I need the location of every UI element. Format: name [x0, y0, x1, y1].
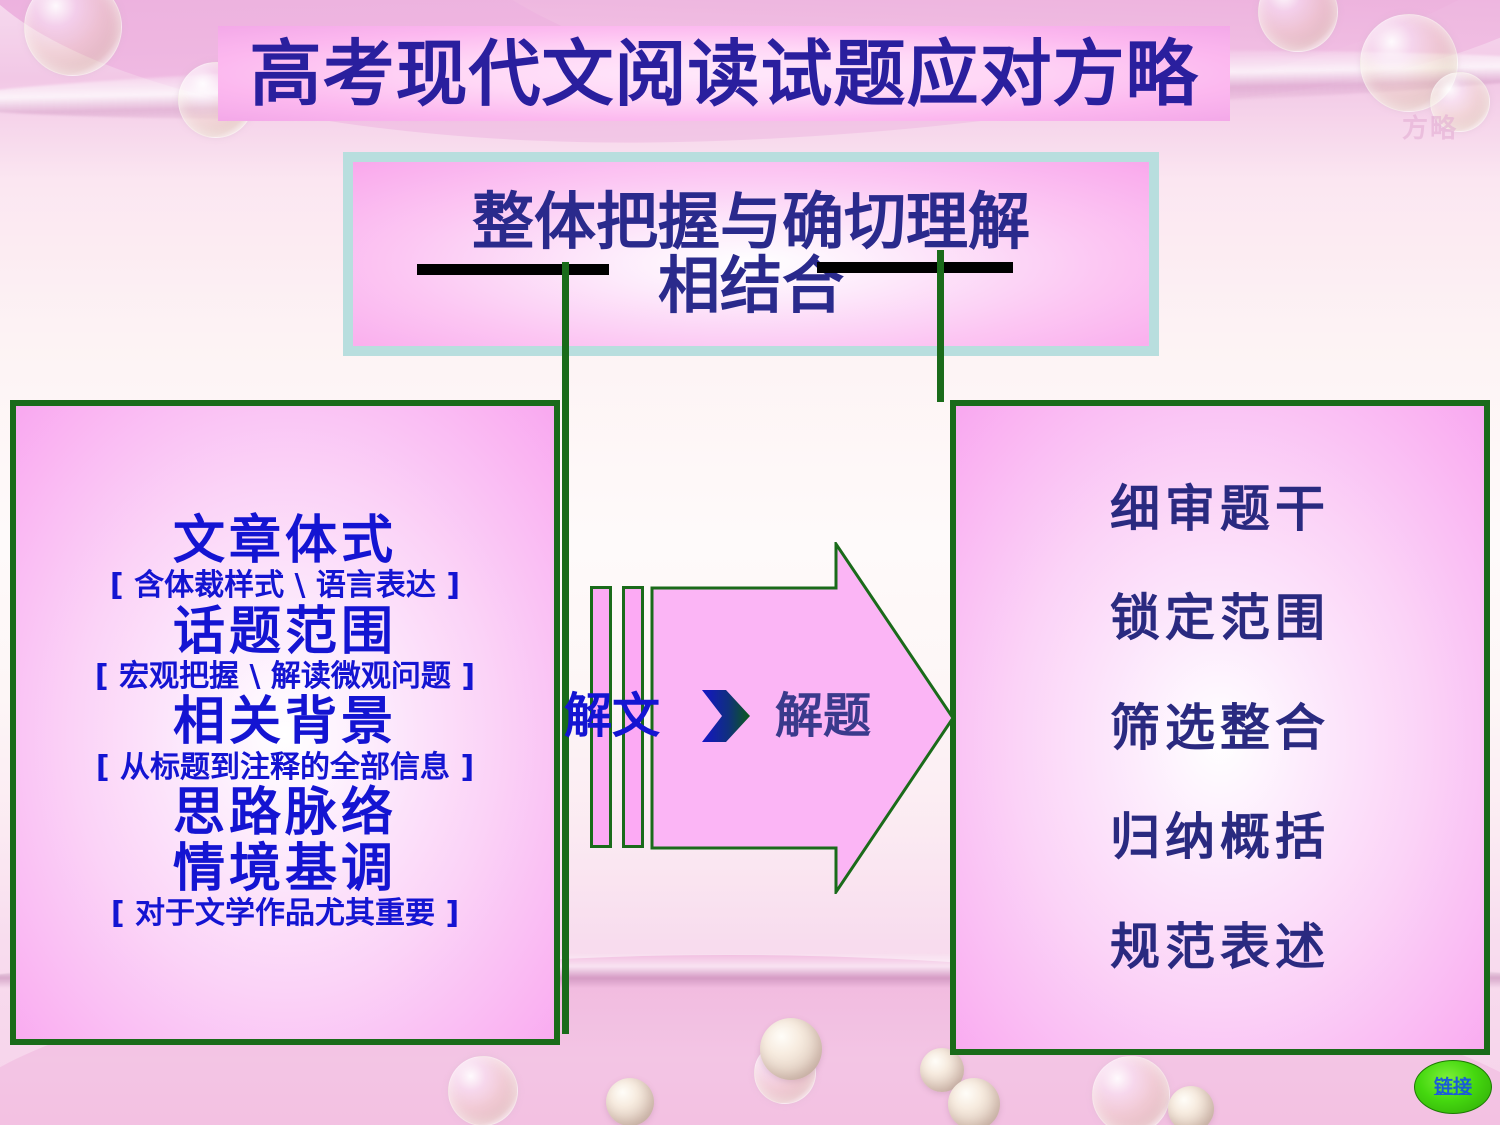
link-button-label: 链接 [1434, 1078, 1472, 1097]
right-item-4: 归纳概括 [1110, 812, 1330, 862]
background-watermark-text: 方略 [1402, 108, 1458, 145]
page-title: 高考现代文阅读试题应对方略 [249, 38, 1198, 110]
link-button[interactable]: 链接 [1414, 1060, 1492, 1114]
bubble-icon [1092, 1056, 1170, 1125]
left-item-heading-3: 相关背景 [173, 694, 397, 750]
panel-answering-steps: 细审题干 锁定范围 筛选整合 归纳概括 规范表述 [950, 400, 1490, 1055]
slide-subtitle-box: 整体把握与确切理解 相结合 [343, 152, 1159, 356]
right-item-3: 筛选整合 [1110, 703, 1330, 753]
left-item-heading-2: 话题范围 [173, 604, 397, 660]
pearl-icon [606, 1078, 654, 1125]
underline-bar-right [817, 262, 1013, 273]
panel-reading-comprehension: 文章体式 [ 含体裁样式 \ 语言表达 ] 话题范围 [ 宏观把握 \ 解读微观… [10, 400, 560, 1045]
left-item-heading-5: 情境基调 [173, 841, 397, 897]
bubble-icon [448, 1056, 518, 1125]
slide-title-box: 高考现代文阅读试题应对方略 [218, 26, 1230, 121]
pearl-icon [760, 1018, 822, 1080]
subtitle-line-1: 整体把握与确切理解 [472, 190, 1030, 254]
pearl-icon [1168, 1086, 1214, 1125]
center-arrow-group: 解文 解题 [560, 540, 960, 910]
right-item-2: 锁定范围 [1110, 593, 1330, 643]
underline-bar-left [417, 264, 609, 275]
left-item-note-2: [ 宏观把握 \ 解读微观问题 ] [95, 660, 475, 695]
left-item-note-5: [ 对于文学作品尤其重要 ] [111, 897, 459, 932]
left-item-note-3: [ 从标题到注释的全部信息 ] [96, 751, 474, 786]
right-item-5: 规范表述 [1110, 922, 1330, 972]
left-item-heading-1: 文章体式 [173, 513, 397, 569]
arrow-label-from: 解文 [564, 692, 660, 740]
left-item-note-1: [ 含体裁样式 \ 语言表达 ] [110, 569, 460, 604]
slide-subtitle-inner: 整体把握与确切理解 相结合 [353, 162, 1149, 346]
chevron-right-icon [700, 688, 752, 744]
slide-canvas: 方略 高考现代文阅读试题应对方略 整体把握与确切理解 相结合 文章体式 [ 含体… [0, 0, 1500, 1125]
connector-line-right [937, 250, 944, 402]
left-item-heading-4: 思路脉络 [173, 785, 397, 841]
arrow-label-to: 解题 [775, 692, 871, 740]
pearl-icon [948, 1078, 1000, 1125]
right-item-1: 细审题干 [1110, 484, 1330, 534]
